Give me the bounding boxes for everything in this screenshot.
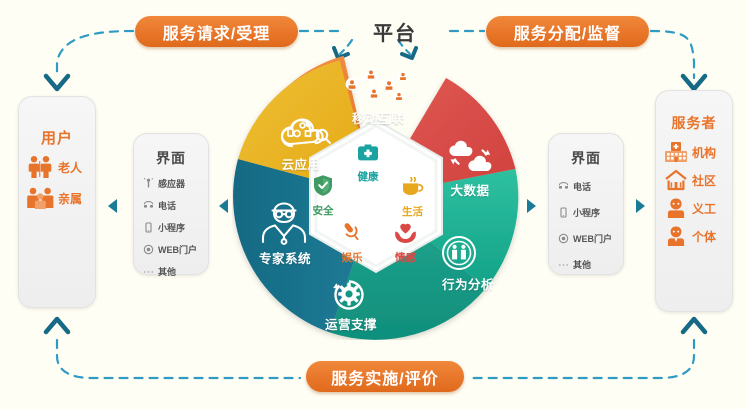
person-analysis-icon	[440, 234, 478, 277]
sensor-icon	[143, 178, 154, 189]
panel-interface-right: 界面 电话 小程序	[548, 133, 624, 275]
list-item-label: 个体	[692, 228, 716, 245]
medical-kit-icon	[356, 142, 380, 168]
list-item[interactable]: 义工	[664, 197, 732, 219]
list-item[interactable]: 小程序	[558, 206, 623, 219]
network-nodes-icon	[340, 68, 416, 109]
list-item-label: WEB门户	[158, 243, 197, 256]
core-item-safety[interactable]: 安全	[312, 174, 334, 218]
core-label-entertainment: 娱乐	[342, 250, 363, 265]
list-item[interactable]: 社区	[664, 169, 732, 191]
cloud-apps-icon	[278, 110, 340, 157]
volunteer-person-icon	[664, 197, 688, 219]
banner-service-implementation[interactable]: 服务实施/评价	[306, 361, 464, 392]
panel-user: 用户 老人	[18, 96, 96, 308]
family-group-icon	[27, 186, 54, 210]
panel-user-title: 用户	[19, 127, 95, 148]
core-item-entertainment[interactable]: 娱乐	[340, 220, 364, 265]
panel-user-list: 老人 亲属	[19, 155, 95, 210]
list-item[interactable]: 个体	[664, 225, 732, 247]
two-elderly-people-icon	[27, 155, 54, 179]
core-label-safety: 安全	[313, 203, 334, 218]
list-item-label: 亲属	[58, 190, 82, 207]
globe-web-icon	[558, 233, 569, 244]
telephone-icon	[558, 181, 569, 192]
segment-label-big-data: 大数据	[437, 180, 503, 199]
list-item-label: 社区	[692, 172, 716, 189]
panel-interface-left-list: 感应器 电话 小程序	[134, 177, 208, 278]
hospital-building-icon	[664, 141, 688, 163]
core-item-emotion[interactable]: 情感	[392, 222, 419, 265]
capability-wheel: 移动互联 大数据 行为分析	[232, 52, 520, 340]
gear-support-icon	[328, 274, 370, 319]
segment-label-cloud-application: 云应用	[270, 154, 332, 173]
list-item[interactable]: 老人	[27, 155, 95, 179]
list-item[interactable]: 亲属	[27, 186, 95, 210]
teacup-icon	[400, 176, 425, 203]
list-item-label: 电话	[573, 180, 591, 193]
list-item-label: WEB门户	[573, 232, 612, 245]
list-item-label: 小程序	[158, 221, 185, 234]
expert-doctor-icon	[258, 200, 310, 251]
shield-icon	[312, 174, 334, 202]
individual-person-icon	[664, 225, 688, 247]
ellipsis-icon	[558, 259, 569, 270]
arrow-up-right	[683, 319, 705, 332]
arrow-left-user-to-interface	[108, 199, 117, 213]
core-label-life: 生活	[402, 204, 423, 219]
list-item[interactable]: WEB门户	[143, 243, 208, 256]
mobile-app-icon	[558, 207, 569, 218]
cloud-sync-icon	[446, 140, 494, 179]
panel-service-provider: 服务者	[655, 90, 733, 312]
list-item[interactable]: 其他	[143, 265, 208, 278]
list-item-label: 机构	[692, 144, 716, 161]
diagram-canvas: 服务请求/受理 服务分配/监督 服务实施/评价 平台 用户	[0, 0, 748, 409]
panel-interface-left-title: 界面	[134, 148, 208, 168]
segment-label-expert-system: 专家系统	[250, 248, 320, 267]
path-bottom-right	[470, 340, 694, 378]
path-top-right	[651, 31, 694, 78]
path-top-left	[57, 31, 133, 78]
arrow-right-wheel-to-interface	[527, 199, 536, 213]
core-label-health: 健康	[358, 169, 379, 184]
core-label-emotion: 情感	[395, 250, 416, 265]
segment-label-behavior-analysis: 行为分析	[428, 274, 508, 293]
list-item[interactable]: 感应器	[143, 177, 208, 190]
telephone-icon	[143, 200, 154, 211]
list-item[interactable]: 其他	[558, 258, 623, 271]
list-item[interactable]: 电话	[143, 199, 208, 212]
core-item-health[interactable]: 健康	[356, 142, 380, 184]
banner-service-allocation[interactable]: 服务分配/监督	[486, 16, 649, 47]
list-item[interactable]: 机构	[664, 141, 732, 163]
banner-service-request[interactable]: 服务请求/受理	[135, 16, 298, 47]
globe-web-icon	[143, 244, 154, 255]
panel-provider-title: 服务者	[656, 113, 732, 133]
panel-interface-left: 界面 感应器 电话	[133, 133, 209, 275]
platform-title: 平台	[340, 16, 450, 46]
panel-provider-list: 机构 社区	[656, 141, 732, 247]
microphone-icon	[340, 220, 364, 249]
list-item[interactable]: WEB门户	[558, 232, 623, 245]
list-item-label: 电话	[158, 199, 176, 212]
arrow-down-left	[46, 76, 68, 89]
arrow-up-left	[46, 319, 68, 332]
list-item[interactable]: 小程序	[143, 221, 208, 234]
list-item-label: 义工	[692, 200, 716, 217]
list-item-label: 其他	[158, 265, 176, 278]
list-item-label: 老人	[58, 159, 82, 176]
list-item-label: 感应器	[158, 177, 185, 190]
segment-label-operation-support: 运营支撑	[316, 314, 386, 333]
list-item-label: 其他	[573, 258, 591, 271]
arrow-left-interface-to-wheel	[219, 199, 228, 213]
community-house-icon	[664, 169, 688, 191]
arrow-right-interface-to-provider	[636, 199, 645, 213]
ellipsis-icon	[143, 266, 154, 277]
panel-interface-right-list: 电话 小程序 WEB门户	[549, 180, 623, 271]
core-item-life[interactable]: 生活	[400, 176, 425, 219]
list-item-label: 小程序	[573, 206, 600, 219]
panel-interface-right-title: 界面	[549, 148, 623, 168]
mobile-app-icon	[143, 222, 154, 233]
segment-label-mobile-internet: 移动互联	[340, 108, 416, 127]
list-item[interactable]: 电话	[558, 180, 623, 193]
path-bottom-left	[57, 340, 300, 378]
heart-hands-icon	[392, 222, 419, 249]
